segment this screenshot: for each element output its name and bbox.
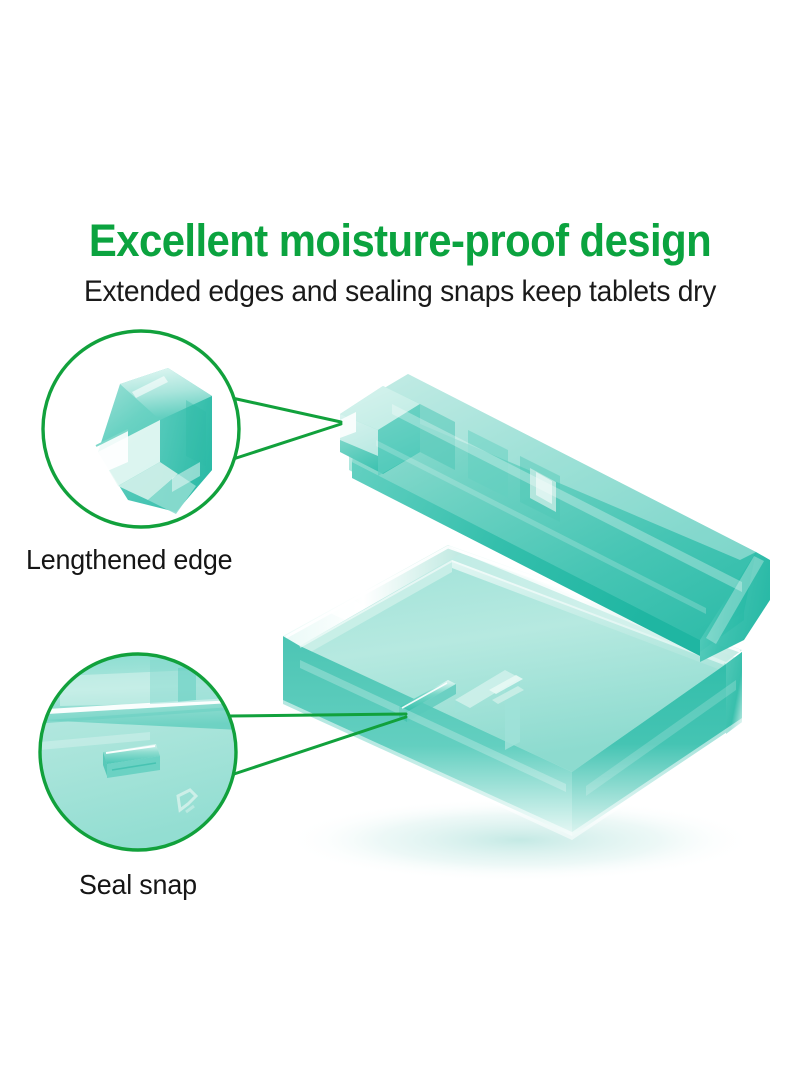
page-subtitle: Extended edges and sealing snaps keep ta… (24, 274, 776, 310)
connector-line-edge-bottom (224, 424, 341, 462)
callout-lengthened-edge (42, 330, 341, 530)
connector-line-edge-top (232, 398, 341, 422)
connector-line-snap-top (230, 714, 406, 716)
callout-label-seal-snap: Seal snap (79, 869, 197, 901)
page-title: Excellent moisture-proof design (28, 216, 772, 266)
callout-label-lengthened-edge: Lengthened edge (26, 544, 232, 576)
infographic-canvas: Excellent moisture-proof design Extended… (0, 0, 800, 1091)
